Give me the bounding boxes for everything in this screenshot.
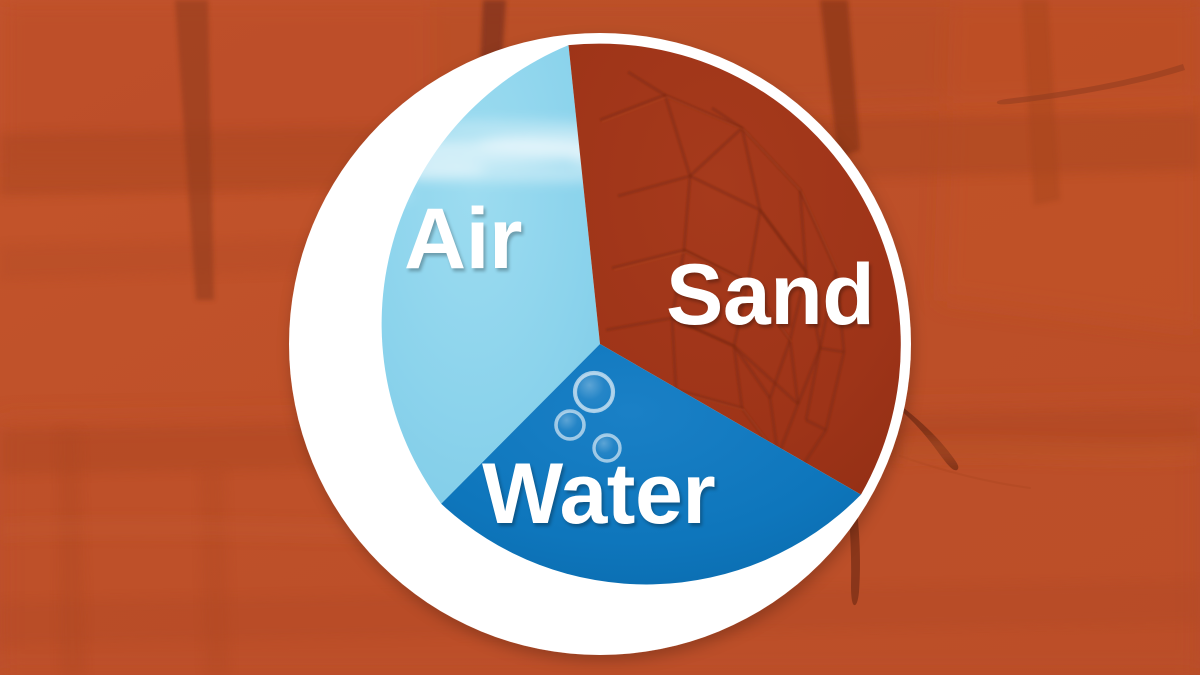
bubble-large [575, 373, 613, 411]
pie-label-sand: Sand [666, 252, 874, 338]
illustration-canvas: Air Sand Water [0, 0, 1200, 675]
pie-label-water: Water [482, 451, 715, 537]
bubble-medium [556, 411, 584, 439]
pie-label-air: Air [404, 196, 522, 282]
pie-chart [0, 0, 1200, 675]
